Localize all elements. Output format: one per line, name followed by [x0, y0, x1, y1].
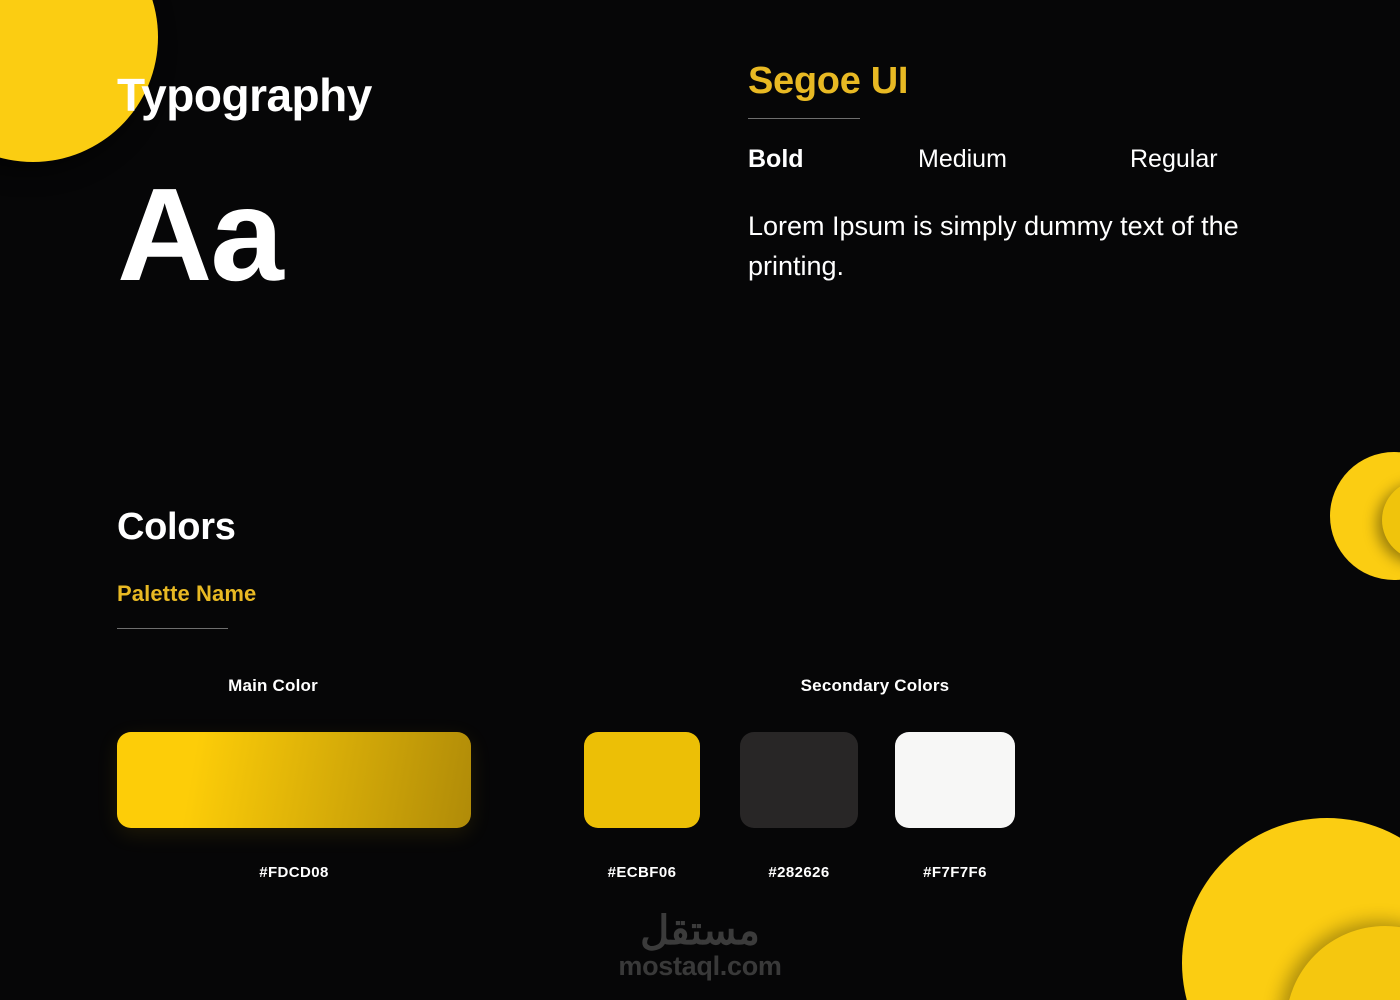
decorative-circle-bottom-right-inner: [1286, 926, 1400, 1000]
decorative-circle-middle-right-outer: [1330, 452, 1400, 580]
font-family-name: Segoe UI: [748, 62, 1288, 102]
font-weight-bold-label: Bold: [748, 147, 918, 172]
main-color-hex-label: #FDCD08: [117, 864, 471, 881]
palette-name: Palette Name: [117, 583, 1297, 605]
watermark-arabic-text: مستقل: [0, 910, 1400, 952]
secondary-color-hex-label-2: #282626: [740, 864, 858, 881]
watermark: مستقل mostaql.com: [0, 910, 1400, 982]
decorative-circle-bottom-right-outer: [1182, 818, 1400, 1000]
secondary-color-swatch-3[interactable]: [895, 732, 1015, 828]
watermark-latin-text: mostaql.com: [0, 952, 1400, 982]
font-weight-medium-label: Medium: [918, 147, 1130, 172]
main-color-group-label: Main Color: [140, 676, 406, 696]
palette-name-divider: [117, 628, 228, 629]
colors-section: Colors Palette Name Main Color Secondary…: [117, 508, 1297, 629]
decorative-circle-top-left-back: [0, 0, 97, 95]
typeface-sample-glyphs: Aa: [117, 174, 372, 295]
font-weight-regular-label: Regular: [1130, 147, 1218, 172]
brand-style-guide-board: Typography Aa Segoe UI Bold Medium Regul…: [0, 0, 1400, 1000]
secondary-color-hex-label-3: #F7F7F6: [885, 864, 1025, 881]
secondary-color-hex-label-1: #ECBF06: [572, 864, 712, 881]
font-weights-row: Bold Medium Regular: [748, 147, 1288, 172]
colors-heading: Colors: [117, 508, 1297, 546]
decorative-circle-middle-right-inner: [1382, 480, 1400, 560]
font-name-divider: [748, 118, 860, 119]
font-sample-paragraph: Lorem Ipsum is simply dummy text of the …: [748, 207, 1268, 287]
typography-heading: Typography: [117, 72, 372, 118]
main-color-swatch[interactable]: [117, 732, 471, 828]
secondary-colors-group-label: Secondary Colors: [717, 676, 1033, 696]
typography-section: Typography Aa: [117, 72, 372, 295]
secondary-color-swatch-2[interactable]: [740, 732, 858, 828]
font-specimen-section: Segoe UI Bold Medium Regular Lorem Ipsum…: [748, 62, 1288, 287]
secondary-color-swatch-1[interactable]: [584, 732, 700, 828]
